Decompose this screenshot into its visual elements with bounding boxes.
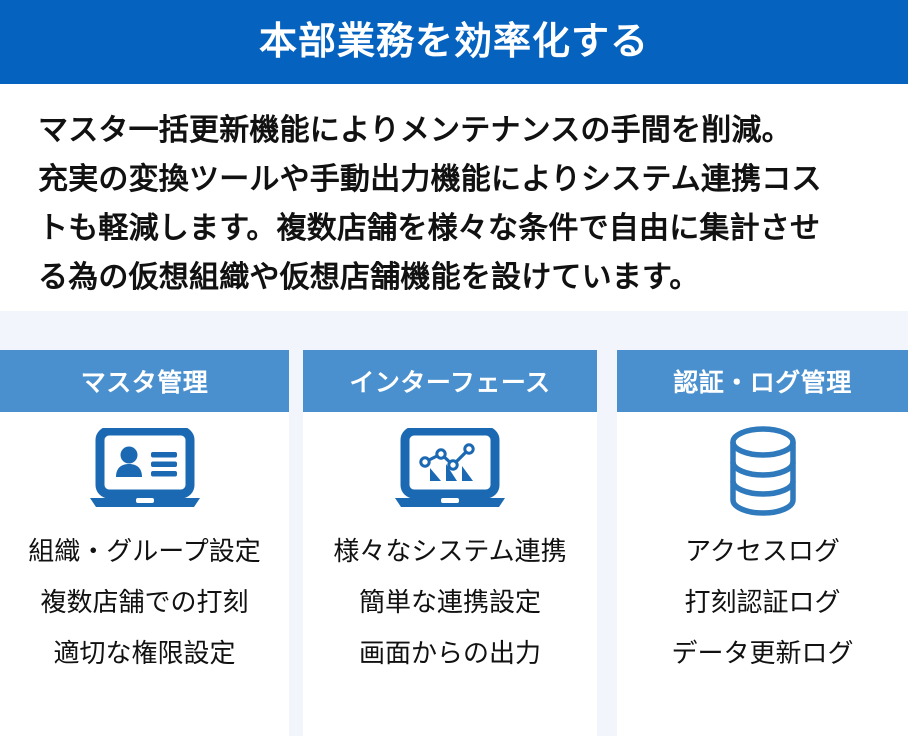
- database-icon: [715, 423, 811, 524]
- card-title: インターフェース: [349, 363, 550, 399]
- list-item: 簡単な連携設定: [359, 585, 541, 619]
- list-item: データ更新ログ: [671, 636, 853, 670]
- card-feature-list: アクセスログ 打刻認証ログ データ更新ログ: [617, 534, 908, 670]
- list-item: アクセスログ: [685, 534, 840, 568]
- laptop-id-card-icon: [86, 428, 204, 519]
- card-feature-list: 様々なシステム連携 簡単な連携設定 画面からの出力: [303, 534, 597, 670]
- list-item: 打刻認証ログ: [684, 585, 840, 619]
- list-item: 複数店舗での打刻: [40, 585, 248, 619]
- page-header: 本部業務を効率化する: [0, 0, 908, 84]
- card-header: 認証・ログ管理: [617, 350, 908, 412]
- list-item: 様々なシステム連携: [333, 534, 566, 568]
- list-item: 画面からの出力: [359, 636, 541, 670]
- feature-cards-section: マスタ管理 組織・グループ設定: [0, 311, 908, 736]
- card-feature-list: 組織・グループ設定 複数店舗での打刻 適切な権限設定: [0, 534, 289, 670]
- card-header: マスタ管理: [0, 350, 289, 412]
- intro-line: トも軽減します。複数店舗を様々な条件で自由に集計させ: [38, 204, 878, 253]
- intro-paragraph: マスタ一括更新機能によりメンテナンスの手間を削減。 充実の変換ツールや手動出力機…: [0, 84, 908, 311]
- card-title: 認証・ログ管理: [673, 363, 852, 399]
- card-icon: [0, 412, 289, 534]
- page-root: 本部業務を効率化する マスタ一括更新機能によりメンテナンスの手間を削減。 充実の…: [0, 0, 908, 736]
- intro-line: る為の仮想組織や仮想店舗機能を設けています。: [38, 253, 878, 302]
- intro-line: 充実の変換ツールや手動出力機能によりシステム連携コス: [38, 155, 878, 204]
- intro-line: マスタ一括更新機能によりメンテナンスの手間を削減。: [38, 106, 878, 155]
- card-icon: [303, 412, 597, 534]
- card-icon: [617, 412, 908, 534]
- page-title: 本部業務を効率化する: [259, 23, 649, 61]
- feature-card-interface[interactable]: インターフェース: [303, 350, 597, 736]
- list-item: 組織・グループ設定: [28, 534, 260, 568]
- list-item: 適切な権限設定: [53, 636, 235, 670]
- laptop-chart-icon: [391, 428, 509, 519]
- card-header: インターフェース: [303, 350, 597, 412]
- feature-card-master-management[interactable]: マスタ管理 組織・グループ設定: [0, 350, 289, 736]
- feature-card-auth-log-management[interactable]: 認証・ログ管理: [617, 350, 908, 736]
- card-title: マスタ管理: [81, 363, 209, 399]
